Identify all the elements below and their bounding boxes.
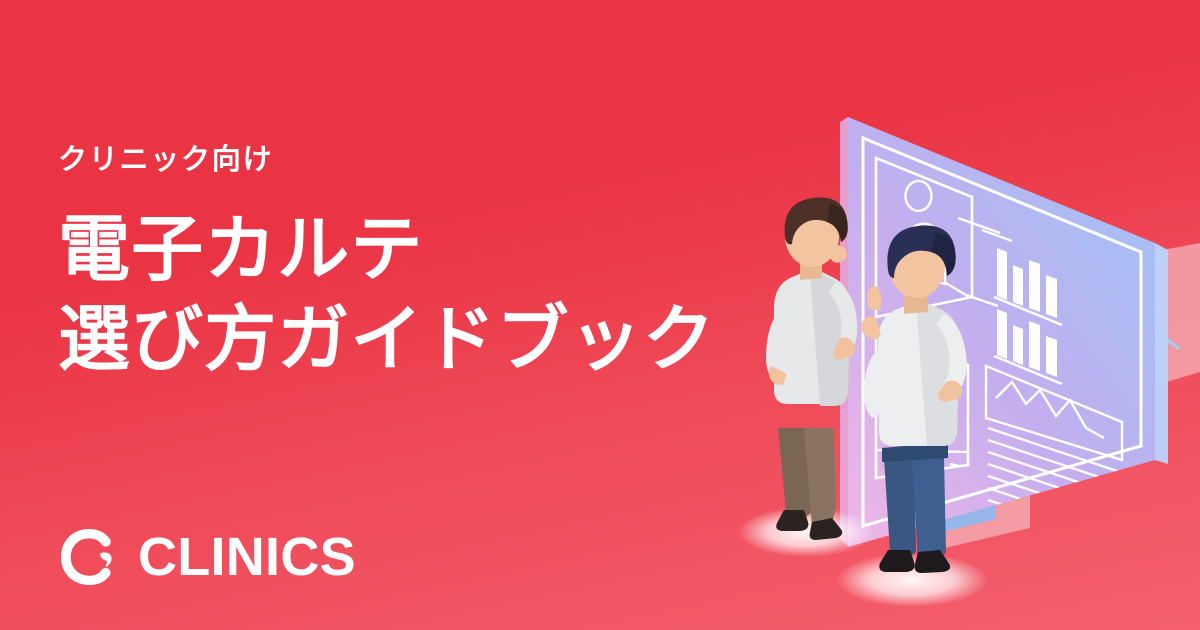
eyebrow-text: クリニック向け xyxy=(58,146,698,175)
clinics-wordmark: CLINICS xyxy=(138,530,356,584)
clinics-logo: CLINICS xyxy=(58,526,356,588)
headline-line-1: 電子カルテ xyxy=(58,205,698,295)
headline-line-2: 選び方ガイドブック xyxy=(58,295,698,385)
clinics-c-mark xyxy=(58,526,120,588)
page-title: 電子カルテ 選び方ガイドブック xyxy=(58,205,698,385)
illustration xyxy=(700,60,1200,630)
promo-banner: クリニック向け 電子カルテ 選び方ガイドブック CLINICS xyxy=(0,0,1200,630)
copy-block: クリニック向け 電子カルテ 選び方ガイドブック xyxy=(58,146,698,385)
